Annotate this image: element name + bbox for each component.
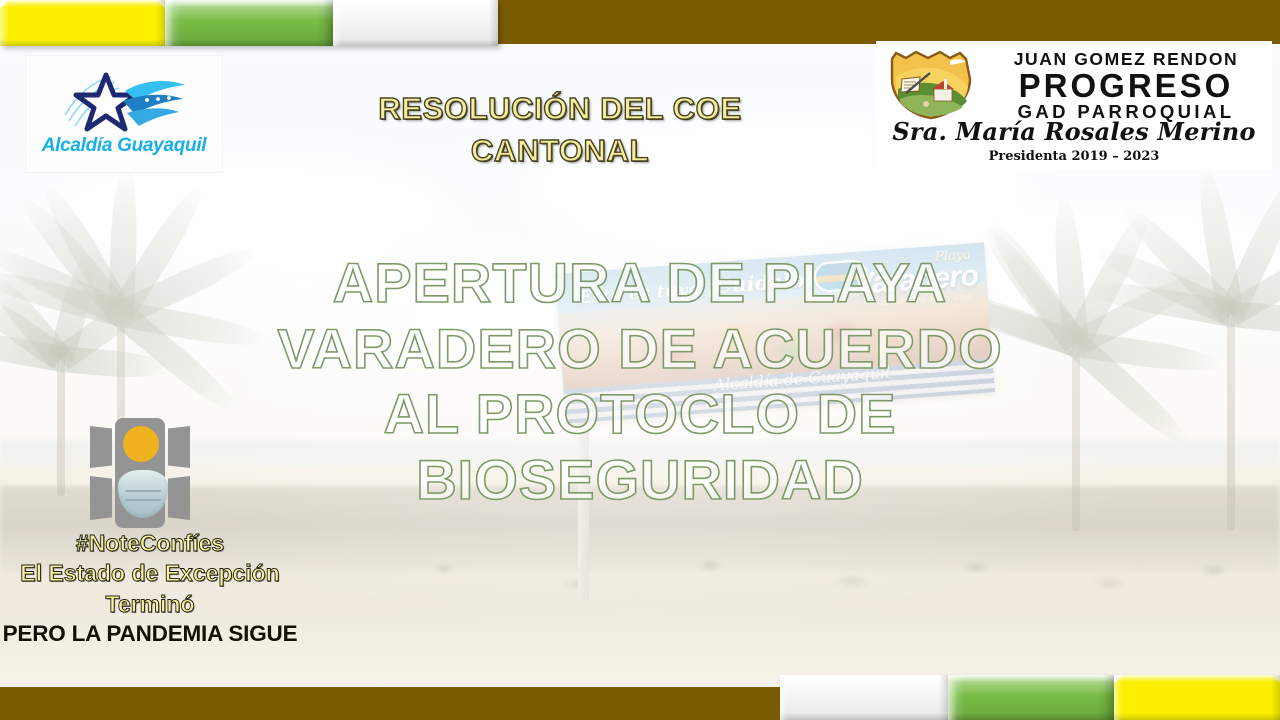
slogan-line-4: PERO LA PANDEMIA SIGUE — [0, 619, 300, 649]
main-title-line: BIOSEGURIDAD — [200, 447, 1080, 513]
presentation-slide: Esto es tuyo ¡Cuidalo! Playa Varadero la… — [0, 0, 1280, 720]
traffic-light-wing — [90, 476, 112, 520]
header-title-line-1: RESOLUCIÓN DEL COE — [340, 88, 780, 130]
bottom-bar-chip-white — [780, 675, 948, 720]
slogan-block: #NoteConfíes El Estado de Excepción Term… — [0, 528, 300, 649]
header-title-line-2: CANTONAL — [340, 130, 780, 172]
main-title-line: APERTURA DE PLAYA — [200, 250, 1080, 316]
traffic-light-mask-icon — [88, 418, 192, 528]
alcaldia-guayaquil-logo: Alcaldía Guayaquil — [26, 56, 222, 172]
traffic-light-wing — [168, 426, 190, 468]
main-title-line: AL PROTOCLO DE — [200, 381, 1080, 447]
gad-president-name: Sra. María Rosales Merino — [876, 117, 1272, 146]
bottom-brown-bar — [0, 687, 780, 720]
top-bar-chip-white — [333, 0, 498, 46]
traffic-light-wing — [168, 476, 190, 520]
traffic-light-amber-lamp — [123, 426, 159, 462]
bottom-bar-chip-yellow — [1114, 675, 1280, 720]
top-bar-chip-yellow — [0, 0, 165, 46]
slogan-line-1: #NoteConfíes — [0, 528, 300, 558]
top-bar-chip-green — [165, 0, 333, 46]
slogan-line-2: El Estado de Excepción — [0, 558, 300, 588]
header-title: RESOLUCIÓN DEL COE CANTONAL — [340, 88, 780, 172]
traffic-light-wing — [90, 426, 112, 468]
gad-line-2: PROGRESO — [980, 69, 1272, 103]
gad-line-1: JUAN GOMEZ RENDON — [980, 51, 1272, 69]
alcaldia-logo-caption: Alcaldía Guayaquil — [42, 135, 207, 157]
gad-president-role: Presidenta 2019 – 2023 — [876, 149, 1272, 164]
top-brown-bar — [498, 0, 1280, 44]
star-swoosh-icon — [59, 71, 189, 133]
main-title: APERTURA DE PLAYA VARADERO DE ACUERDO AL… — [200, 250, 1080, 512]
main-title-line: VARADERO DE ACUERDO — [200, 316, 1080, 382]
bottom-bar-chip-green — [948, 675, 1114, 720]
slogan-line-3: Terminó — [0, 589, 300, 619]
